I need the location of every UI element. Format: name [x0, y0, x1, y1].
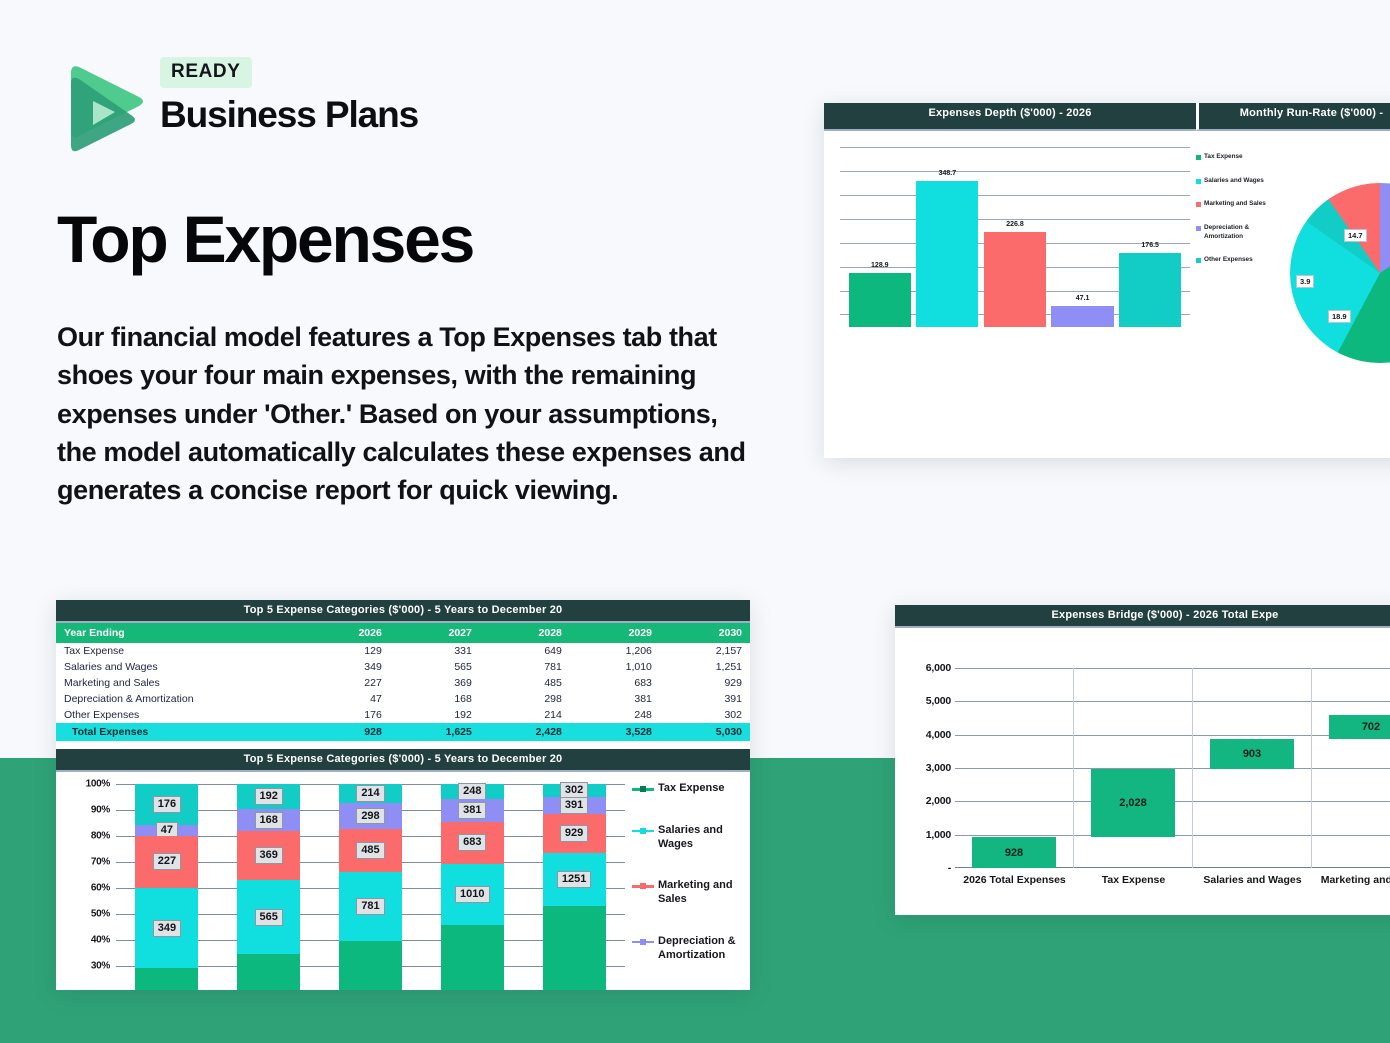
expenses-bridge-card[interactable]: Expenses Bridge ($'000) - 2026 Total Exp… — [895, 605, 1390, 915]
cell: 214 — [480, 707, 570, 723]
legend-item-marketing-sales: Marketing and Sales — [632, 879, 744, 907]
segment-value: 1251 — [557, 871, 591, 888]
segment-salaries-wages: 781 — [339, 872, 402, 941]
bar-chart-bars: 128.9 348.7 226.8 47.1 — [846, 159, 1184, 327]
ready-badge: READY — [160, 57, 252, 88]
column-header-2030: 2030 — [660, 623, 750, 643]
waterfall-value: 928 — [1005, 847, 1023, 859]
legend-marker-icon — [632, 881, 654, 891]
expenses-depth-legend: Tax Expense Salaries and Wages Marketing… — [1196, 153, 1286, 280]
segment-other-expenses: 176 — [135, 784, 198, 825]
cell: 381 — [570, 691, 660, 707]
legend-label: Tax Expense — [1204, 153, 1243, 162]
total-cell: 928 — [306, 723, 390, 741]
total-cell: 5,030 — [660, 723, 750, 741]
pie-label-salaries: 18.9 — [1328, 310, 1351, 323]
segment-marketing-sales: 227 — [135, 836, 198, 888]
cell: 1,206 — [570, 643, 660, 659]
y-tick: 40% — [91, 935, 110, 946]
segment-marketing-sales: 929 — [543, 814, 606, 854]
x-tick: Marketing and Sales — [1312, 874, 1390, 886]
cell: 929 — [660, 675, 750, 691]
segment-salaries-wages: 1251 — [543, 853, 606, 906]
legend-label: Depreciation & Amortization — [1204, 224, 1286, 241]
legend-swatch-icon — [1196, 155, 1201, 160]
y-tick: 5,000 — [926, 695, 951, 707]
segment-value: 248 — [458, 783, 486, 800]
segment-depreciation: 298 — [339, 803, 402, 829]
waterfall-col-2026-total: 928 — [955, 668, 1074, 868]
legend-item-marketing-sales: Marketing and Sales — [1196, 200, 1286, 209]
segment-value: 683 — [458, 834, 486, 851]
expenses-depth-bar-chart: 128.9 348.7 226.8 47.1 — [840, 147, 1190, 327]
play-triangle-logo-icon — [57, 57, 147, 155]
table-row: Depreciation & Amortization 47 168 298 3… — [56, 691, 750, 707]
legend-item-other-expenses: Other Expenses — [1196, 256, 1286, 265]
waterfall-x-labels: 2026 Total Expenses Tax Expense Salaries… — [955, 874, 1390, 886]
stacked-plot-area: 176 47 227 349 192 168 369 565 2 — [116, 784, 625, 990]
bar-value-label: 47.1 — [1049, 295, 1117, 302]
waterfall-bar: 928 — [972, 837, 1057, 868]
y-tick: 1,000 — [926, 829, 951, 841]
table-header-row: Year Ending 2026 2027 2028 2029 2030 — [56, 623, 750, 643]
segment-value: 565 — [255, 909, 283, 926]
cell: 192 — [390, 707, 480, 723]
pie-label-other: 3.9 — [1296, 275, 1314, 288]
expenses-depth-title: Expenses Depth ($'000) - 2026 — [824, 103, 1196, 131]
cell: 391 — [660, 691, 750, 707]
cell: 176 — [306, 707, 390, 723]
y-tick: 6,000 — [926, 662, 951, 674]
x-tick: 2026 Total Expenses — [955, 874, 1074, 886]
segment-depreciation: 391 — [543, 797, 606, 814]
legend-marker-icon — [632, 937, 654, 947]
segment-value: 929 — [560, 825, 588, 842]
table-row: Salaries and Wages 349 565 781 1,010 1,2… — [56, 659, 750, 675]
bar-value-label: 128.9 — [846, 262, 914, 269]
stacked-columns: 176 47 227 349 192 168 369 565 2 — [116, 784, 625, 990]
segment-other-expenses: 302 — [543, 784, 606, 797]
segment-marketing-sales: 369 — [237, 831, 300, 880]
table-row: Tax Expense 129 331 649 1,206 2,157 — [56, 643, 750, 659]
segment-value: 485 — [356, 842, 384, 859]
legend-swatch-icon — [1196, 179, 1201, 184]
brand-name: Business Plans — [160, 94, 418, 136]
total-cell: 3,528 — [570, 723, 660, 741]
bar-tax-expense: 128.9 — [846, 159, 914, 327]
waterfall-columns: 928 2,028 903 702 — [955, 668, 1390, 868]
segment-value: 176 — [153, 796, 181, 813]
top5-table-title: Top 5 Expense Categories ($'000) - 5 Yea… — [56, 600, 750, 623]
x-tick: Salaries and Wages — [1193, 874, 1312, 886]
segment-tax-expense — [543, 906, 606, 990]
y-tick: 100% — [86, 779, 110, 790]
y-tick: 80% — [91, 831, 110, 842]
segment-value: 227 — [153, 853, 181, 870]
y-tick: 2,000 — [926, 795, 951, 807]
cell: 1,010 — [570, 659, 660, 675]
segment-value: 369 — [255, 847, 283, 864]
brand-logo[interactable]: READY Business Plans — [57, 57, 457, 157]
segment-depreciation: 168 — [237, 809, 300, 831]
segment-marketing-sales: 485 — [339, 829, 402, 872]
waterfall-bar: 2,028 — [1091, 769, 1176, 837]
segment-tax-expense — [135, 968, 198, 990]
cell: 298 — [480, 691, 570, 707]
segment-value: 168 — [255, 812, 283, 829]
segment-value: 391 — [560, 797, 588, 814]
segment-value: 781 — [356, 898, 384, 915]
cell: 331 — [390, 643, 480, 659]
row-label: Marketing and Sales — [56, 675, 306, 691]
stacked-column-2027: 192 168 369 565 — [218, 784, 320, 990]
total-cell: 2,428 — [480, 723, 570, 741]
legend-marker-icon — [632, 784, 654, 794]
segment-salaries-wages: 1010 — [441, 864, 504, 925]
cell: 565 — [390, 659, 480, 675]
bar-depreciation-amortization: 47.1 — [1049, 159, 1117, 327]
cell: 649 — [480, 643, 570, 659]
cell: 485 — [480, 675, 570, 691]
segment-tax-expense — [237, 954, 300, 990]
legend-label: Tax Expense — [658, 782, 724, 796]
top5-expense-categories-card[interactable]: Top 5 Expense Categories ($'000) - 5 Yea… — [56, 600, 750, 990]
stacked-column-2028: 214 298 485 781 — [320, 784, 422, 990]
segment-depreciation: 381 — [441, 799, 504, 822]
segment-value: 192 — [255, 788, 283, 805]
bar-value-label: 176.5 — [1116, 242, 1184, 249]
x-tick: Tax Expense — [1074, 874, 1193, 886]
legend-item-salaries-wages: Salaries and Wages — [632, 824, 744, 852]
legend-item-depreciation: Depreciation & Amortization — [1196, 224, 1286, 241]
cell: 227 — [306, 675, 390, 691]
bar-salaries-wages: 348.7 — [914, 159, 982, 327]
segment-other-expenses: 214 — [339, 784, 402, 803]
legend-label: Salaries and Wages — [658, 824, 744, 852]
cell: 349 — [306, 659, 390, 675]
waterfall-col-salaries-wages: 903 — [1193, 668, 1312, 868]
column-header-2029: 2029 — [570, 623, 660, 643]
segment-value: 214 — [356, 785, 384, 802]
segment-value: 349 — [153, 920, 181, 937]
y-tick: 30% — [91, 961, 110, 972]
total-cell: 1,625 — [390, 723, 480, 741]
table-row: Other Expenses 176 192 214 248 302 — [56, 707, 750, 723]
monthly-runrate-title: Monthly Run-Rate ($'000) - — [1196, 103, 1390, 131]
segment-value: 298 — [356, 808, 384, 825]
y-tick: 90% — [91, 805, 110, 816]
waterfall-col-tax-expense: 2,028 — [1074, 668, 1193, 868]
legend-item-tax-expense: Tax Expense — [1196, 153, 1286, 162]
table-row: Marketing and Sales 227 369 485 683 929 — [56, 675, 750, 691]
table-total-row: Total Expenses 928 1,625 2,428 3,528 5,0… — [56, 723, 750, 741]
pie-label-marketing: 14.7 — [1344, 229, 1367, 242]
y-tick: 50% — [91, 909, 110, 920]
y-tick: 70% — [91, 857, 110, 868]
legend-swatch-icon — [1196, 202, 1201, 207]
page-title: Top Expenses — [57, 205, 473, 274]
cell: 2,157 — [660, 643, 750, 659]
stacked-column-2030: 302 391 929 1251 — [523, 784, 625, 990]
waterfall-value: 2,028 — [1119, 797, 1147, 809]
bar-marketing-sales: 226.8 — [981, 159, 1049, 327]
segment-marketing-sales: 683 — [441, 822, 504, 864]
segment-depreciation: 47 — [135, 825, 198, 836]
bar-other-expenses: 176.5 — [1116, 159, 1184, 327]
stacked-chart-y-axis: 100% 90% 80% 70% 60% 50% 40% 30% — [62, 784, 110, 984]
row-label: Depreciation & Amortization — [56, 691, 306, 707]
legend-label: Marketing and Sales — [658, 879, 744, 907]
cell: 47 — [306, 691, 390, 707]
y-tick: 3,000 — [926, 762, 951, 774]
top5-expense-table[interactable]: Year Ending 2026 2027 2028 2029 2030 Tax… — [56, 623, 750, 741]
stacked-chart-legend: Tax Expense Salaries and Wages Marketing… — [632, 782, 744, 990]
cell: 781 — [480, 659, 570, 675]
pie-slices — [1290, 183, 1390, 363]
waterfall-value: 702 — [1362, 721, 1380, 733]
legend-swatch-icon — [1196, 226, 1201, 231]
segment-tax-expense — [441, 925, 504, 990]
segment-salaries-wages: 349 — [135, 888, 198, 968]
waterfall-plot-area: 928 2,028 903 702 — [955, 668, 1390, 868]
waterfall-col-marketing-sales: 702 — [1312, 668, 1390, 868]
slide-canvas: READY Business Plans Top Expenses Our fi… — [0, 0, 1390, 1043]
legend-item-tax-expense: Tax Expense — [632, 782, 744, 796]
waterfall-bar: 903 — [1210, 739, 1295, 769]
column-header-2027: 2027 — [390, 623, 480, 643]
column-header-year-ending: Year Ending — [56, 623, 306, 643]
waterfall-y-axis: 6,000 5,000 4,000 3,000 2,000 1,000 - — [899, 668, 951, 868]
segment-other-expenses: 192 — [237, 784, 300, 809]
legend-item-salaries-wages: Salaries and Wages — [1196, 177, 1286, 186]
cell: 248 — [570, 707, 660, 723]
legend-item-depreciation: Depreciation & Amortization — [632, 935, 744, 963]
top5-chart-title: Top 5 Expense Categories ($'000) - 5 Yea… — [56, 749, 750, 772]
column-header-2026: 2026 — [306, 623, 390, 643]
legend-swatch-icon — [1196, 258, 1201, 263]
y-tick: - — [948, 862, 951, 874]
segment-salaries-wages: 565 — [237, 880, 300, 954]
legend-label: Marketing and Sales — [1204, 200, 1266, 209]
bar-value-label: 226.8 — [981, 221, 1049, 228]
legend-label: Depreciation & Amortization — [658, 935, 744, 963]
segment-value: 1010 — [455, 886, 489, 903]
cell: 1,251 — [660, 659, 750, 675]
waterfall-value: 903 — [1243, 748, 1261, 760]
segment-tax-expense — [339, 941, 402, 990]
cell: 168 — [390, 691, 480, 707]
cell: 129 — [306, 643, 390, 659]
total-label: Total Expenses — [56, 723, 306, 741]
y-tick: 60% — [91, 883, 110, 894]
page-description: Our financial model features a Top Expen… — [57, 318, 757, 510]
bar-value-label: 348.7 — [914, 170, 982, 177]
legend-label: Other Expenses — [1204, 256, 1253, 265]
y-tick: 4,000 — [926, 729, 951, 741]
expenses-bridge-waterfall-chart: 6,000 5,000 4,000 3,000 2,000 1,000 - 92… — [895, 628, 1390, 900]
legend-marker-icon — [632, 826, 654, 836]
waterfall-bar: 702 — [1329, 715, 1390, 739]
cell: 369 — [390, 675, 480, 691]
expenses-bridge-title: Expenses Bridge ($'000) - 2026 Total Exp… — [895, 605, 1390, 628]
column-header-2028: 2028 — [480, 623, 570, 643]
monthly-runrate-pie-chart: 10.7 14.7 3.9 18.9 — [1290, 183, 1390, 363]
row-label: Salaries and Wages — [56, 659, 306, 675]
stacked-column-2026: 176 47 227 349 — [116, 784, 218, 990]
cell: 302 — [660, 707, 750, 723]
row-label: Tax Expense — [56, 643, 306, 659]
top5-stacked-bar-chart: 100% 90% 80% 70% 60% 50% 40% 30% 176 47 — [56, 772, 750, 990]
segment-value: 381 — [458, 802, 486, 819]
expenses-depth-card[interactable]: Expenses Depth ($'000) - 2026 Monthly Ru… — [824, 103, 1390, 458]
row-label: Other Expenses — [56, 707, 306, 723]
cell: 683 — [570, 675, 660, 691]
segment-other-expenses: 248 — [441, 784, 504, 799]
legend-label: Salaries and Wages — [1204, 177, 1264, 186]
stacked-column-2029: 248 381 683 1010 — [421, 784, 523, 990]
